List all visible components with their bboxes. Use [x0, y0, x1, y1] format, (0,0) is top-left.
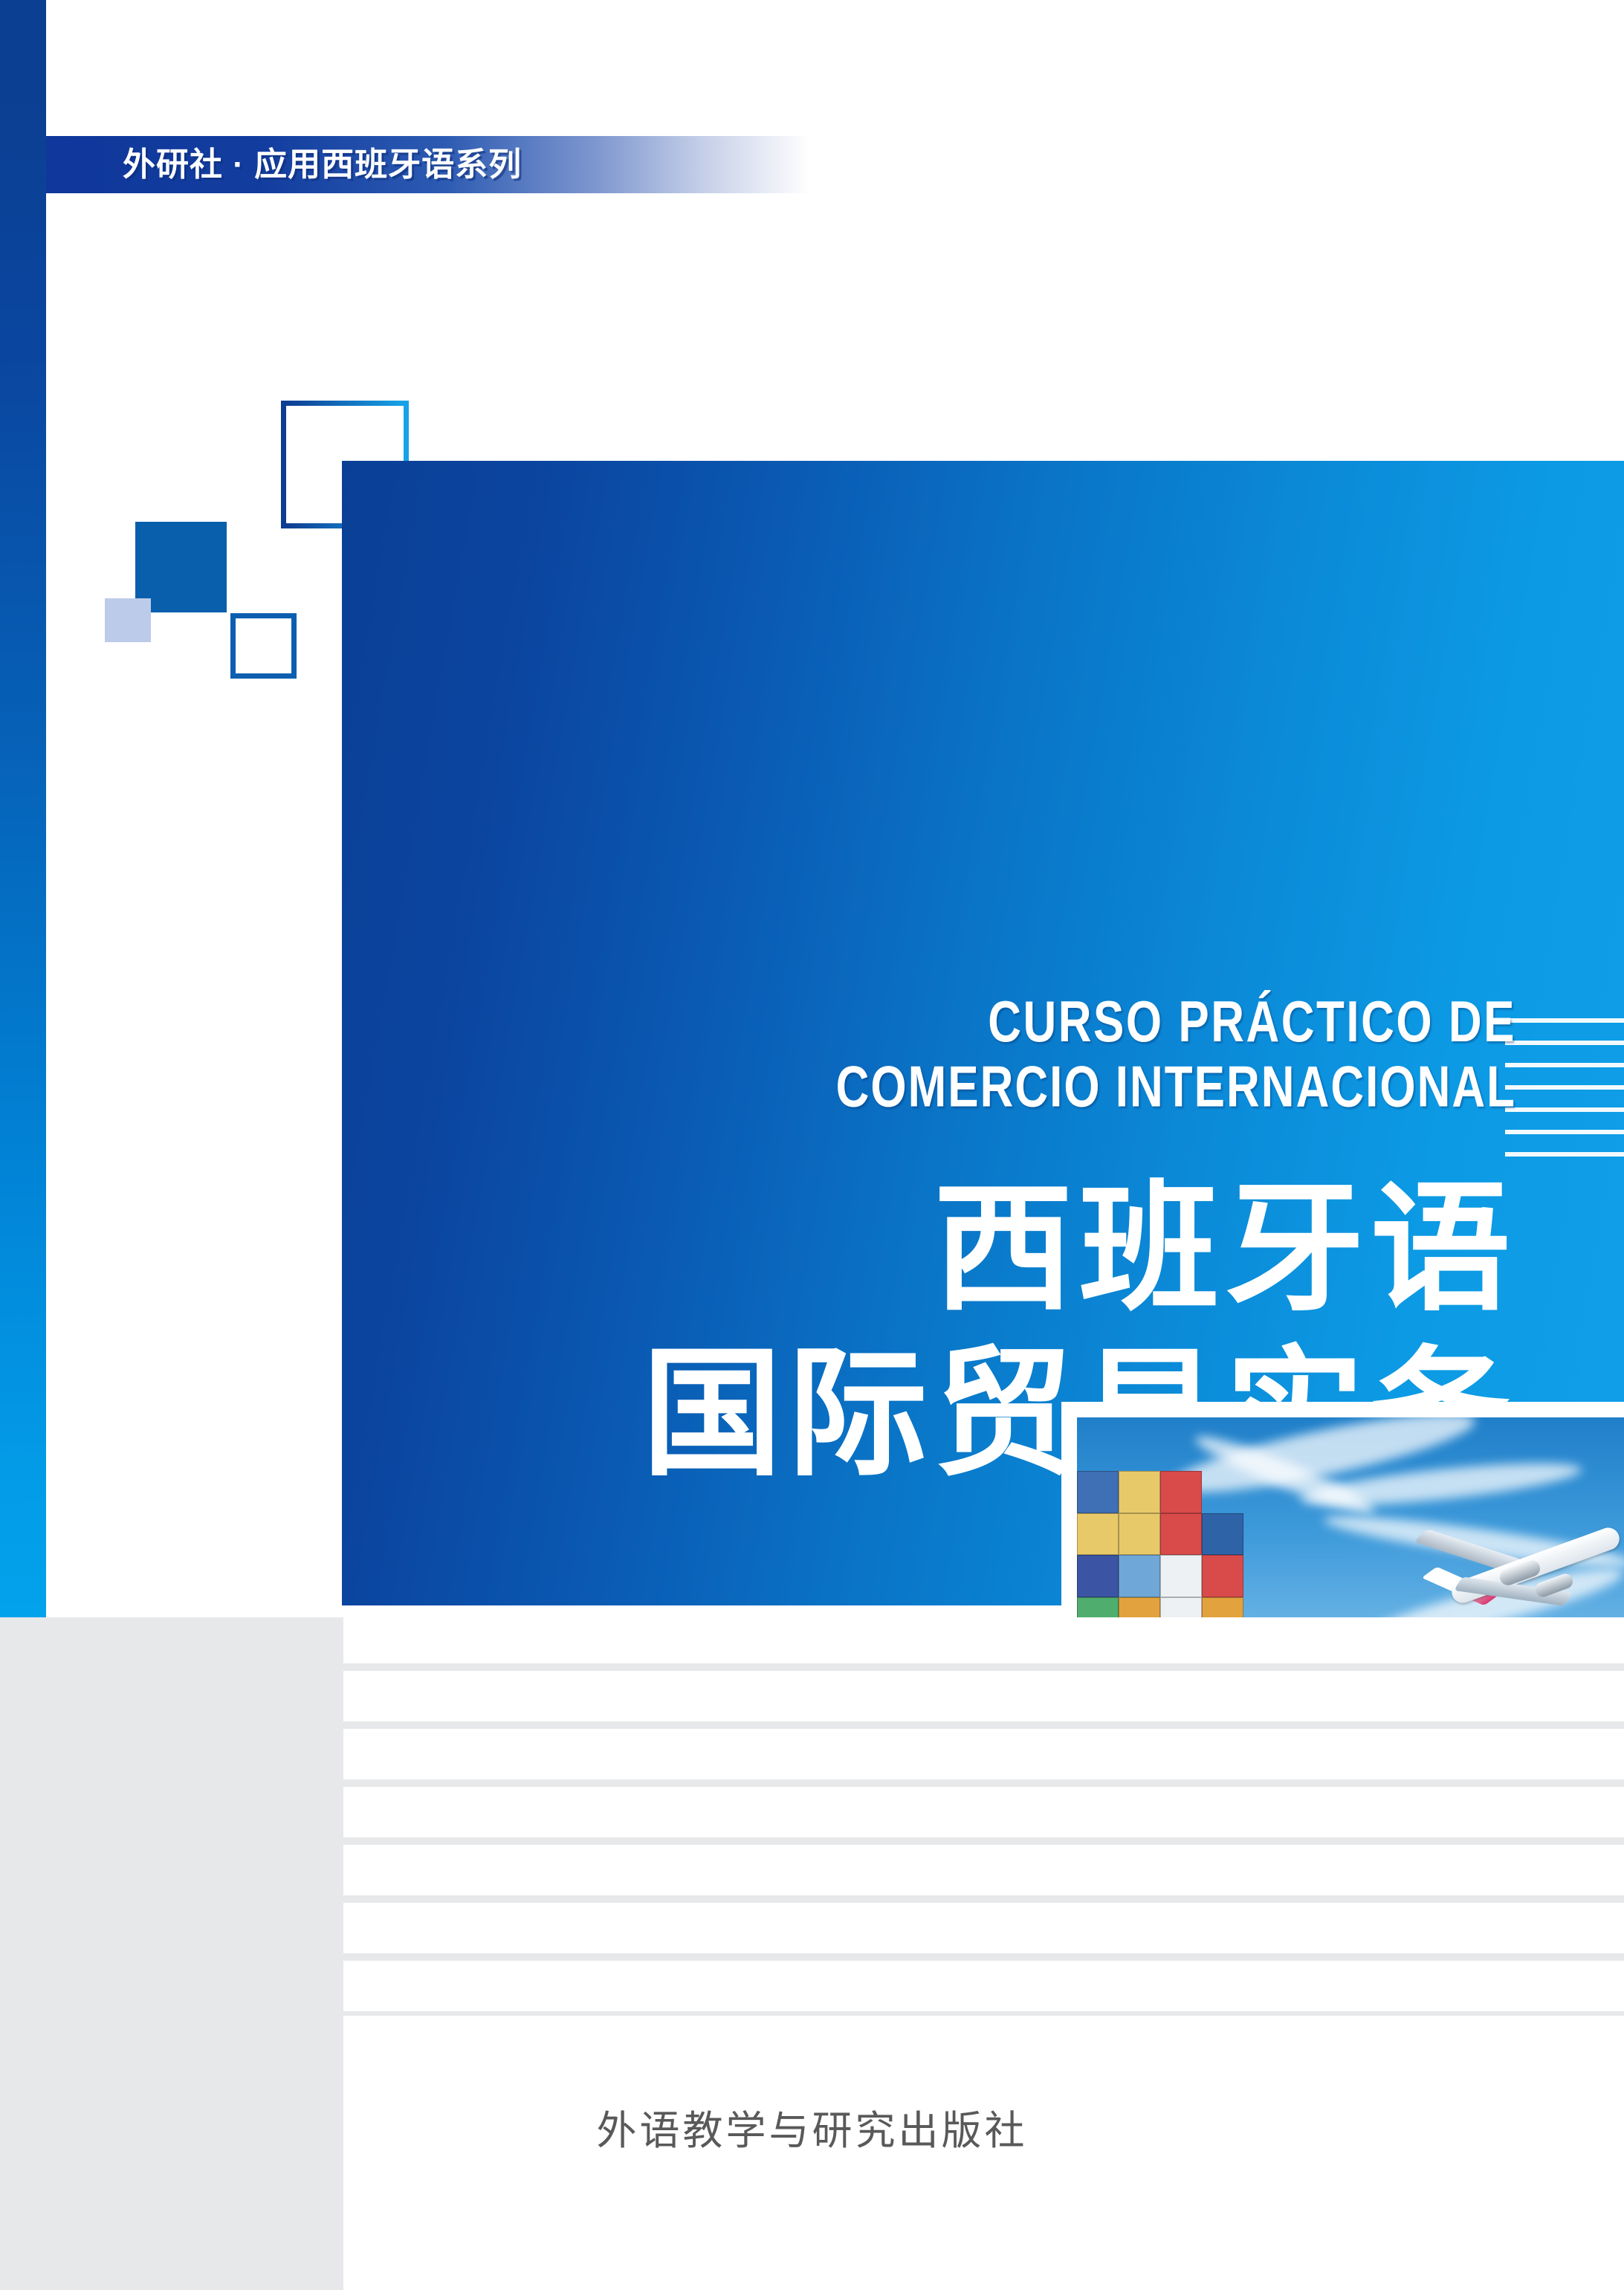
decor-square-outline-small — [230, 613, 297, 679]
bottom-stripe-zone — [0, 1617, 1624, 2290]
stripe-line — [0, 1663, 1624, 1671]
spanish-title-line-2: COMERCIO INTERNACIONAL — [401, 1055, 1516, 1121]
decor-rule-marks — [1505, 1018, 1624, 1174]
left-gradient-bar — [0, 0, 46, 1617]
stripe-line — [0, 1837, 1624, 1845]
chinese-title-line-1: 西班牙语 — [357, 1167, 1516, 1332]
stripe-line — [0, 1895, 1624, 1903]
book-cover: 外研社 · 应用西班牙语系列 CURSO PRÁCTICO DE COMERCI… — [0, 0, 1624, 2290]
publisher-name: 外语教学与研究出版社 — [0, 2097, 1624, 2156]
spanish-title-line-1: CURSO PRÁCTICO DE — [988, 990, 1516, 1054]
stripe-line — [0, 1721, 1624, 1729]
stripe-line — [0, 2011, 1624, 2016]
decor-square-light — [105, 598, 151, 642]
stripe-line — [0, 1953, 1624, 1961]
stripe-line — [0, 1779, 1624, 1787]
spanish-title: CURSO PRÁCTICO DE COMERCIO INTERNACIONAL — [401, 990, 1516, 1120]
series-banner-label: 外研社 · 应用西班牙语系列 — [123, 140, 522, 190]
